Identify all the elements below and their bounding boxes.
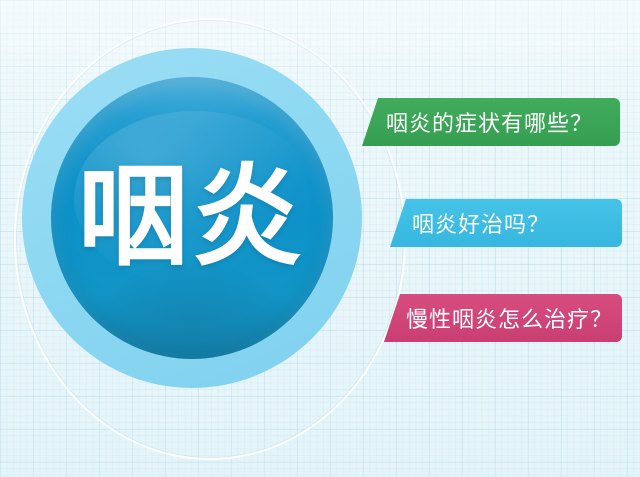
question-banner-curable-label: 咽炎好治吗？ <box>412 207 550 239</box>
question-banner-chronic-treatment[interactable]: 慢性咽炎怎么治疗？ <box>384 294 622 342</box>
poster-canvas: 咽炎 咽炎的症状有哪些？ 咽炎好治吗？ 慢性咽炎怎么治疗？ <box>0 0 640 477</box>
question-banner-symptoms-label: 咽炎的症状有哪些？ <box>386 106 593 138</box>
topic-badge: 咽炎 <box>22 48 362 388</box>
question-banner-curable[interactable]: 咽炎好治吗？ <box>390 199 622 247</box>
badge-label: 咽炎 <box>22 48 362 388</box>
question-banner-chronic-treatment-label: 慢性咽炎怎么治疗？ <box>406 302 613 334</box>
question-banner-symptoms[interactable]: 咽炎的症状有哪些？ <box>362 98 620 146</box>
